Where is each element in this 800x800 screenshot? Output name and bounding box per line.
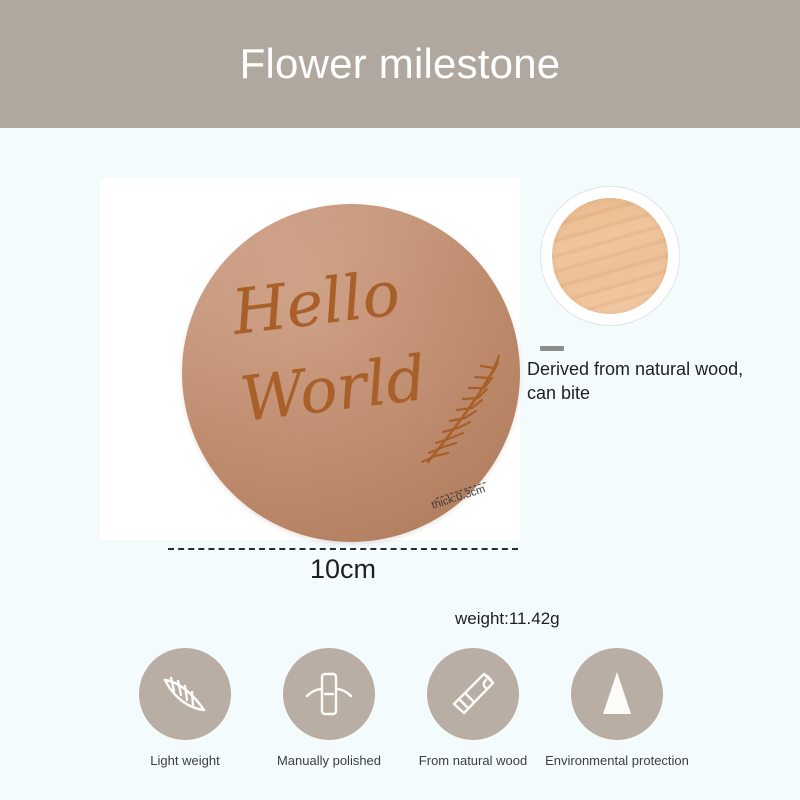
feature-label: Manually polished	[277, 753, 381, 768]
feature-label: Environmental protection	[545, 753, 689, 768]
pine-tree-icon	[589, 666, 645, 722]
feature-icon-circle	[571, 648, 663, 740]
feature-item-light-weight: Light weight	[118, 648, 252, 768]
header-banner: Flower milestone	[0, 0, 800, 128]
polishing-tool-icon	[301, 666, 357, 722]
page-title: Flower milestone	[240, 43, 561, 85]
diameter-label: 10cm	[168, 554, 518, 585]
detail-dash-marker	[540, 346, 564, 351]
feature-icon-circle	[283, 648, 375, 740]
feature-item-from-natural-wood: From natural wood	[406, 648, 540, 768]
feature-label: Light weight	[150, 753, 219, 768]
weight-label: weight:11.42g	[455, 609, 560, 629]
feature-icon-circle	[427, 648, 519, 740]
feature-list: Light weight Manually polished	[118, 648, 684, 768]
detail-description: Derived from natural wood, can bite	[527, 358, 757, 406]
feature-item-environmental-protection: Environmental protection	[550, 648, 684, 768]
wood-texture-swatch	[552, 198, 668, 314]
fern-leaf-icon	[410, 354, 506, 472]
feature-label: From natural wood	[419, 753, 527, 768]
feature-icon-circle	[139, 648, 231, 740]
feature-item-manually-polished: Manually polished	[262, 648, 396, 768]
wood-log-icon	[445, 666, 501, 722]
diameter-dash-line	[168, 548, 518, 550]
material-detail-callout	[540, 186, 680, 326]
feather-icon	[157, 666, 213, 722]
